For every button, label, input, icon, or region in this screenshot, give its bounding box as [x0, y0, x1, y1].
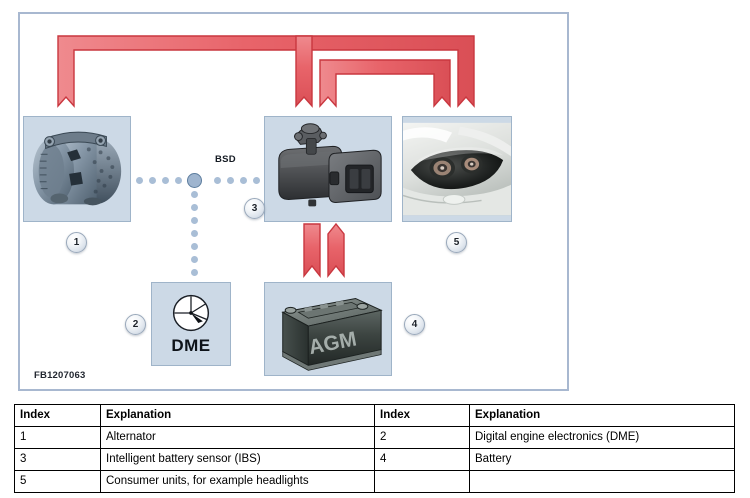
component-alternator[interactable] — [23, 116, 131, 222]
headlight-image — [403, 116, 511, 222]
table-row: 3 Intelligent battery sensor (IBS) 4 Bat… — [15, 449, 735, 471]
cell-index-left: 3 — [15, 449, 101, 471]
bus-label: BSD — [215, 154, 236, 165]
bus-dot — [149, 177, 156, 184]
cell-index-left: 5 — [15, 471, 101, 493]
badge-battery-sensor: 3 — [244, 198, 265, 219]
header-index-2: Index — [375, 405, 470, 427]
bus-dot — [191, 243, 198, 250]
battery-sensor-image — [265, 116, 391, 222]
table-row: 1 Alternator 2 Digital engine electronic… — [15, 427, 735, 449]
badge-dme: 2 — [125, 314, 146, 335]
cell-explanation-left: Alternator — [101, 427, 375, 449]
dme-label: DME — [171, 336, 210, 356]
bus-dot — [191, 230, 198, 237]
gauge-icon — [170, 292, 212, 334]
cell-explanation-left: Intelligent battery sensor (IBS) — [101, 449, 375, 471]
cell-explanation-left: Consumer units, for example headlights — [101, 471, 375, 493]
bus-dot — [175, 177, 182, 184]
table-header-row: Index Explanation Index Explanation — [15, 405, 735, 427]
battery-image: AGM — [265, 282, 391, 376]
bus-dot — [191, 269, 198, 276]
alternator-image — [24, 116, 130, 222]
bus-dot — [191, 256, 198, 263]
header-explanation-1: Explanation — [101, 405, 375, 427]
badge-headlight: 5 — [446, 232, 467, 253]
cell-index-right: 4 — [375, 449, 470, 471]
component-dme[interactable]: DME — [151, 282, 231, 366]
header-explanation-2: Explanation — [470, 405, 735, 427]
cell-explanation-right: Digital engine electronics (DME) — [470, 427, 735, 449]
cell-index-left: 1 — [15, 427, 101, 449]
bus-dot — [227, 177, 234, 184]
cell-explanation-right — [470, 471, 735, 493]
bus-dot — [214, 177, 221, 184]
component-battery[interactable]: AGM — [264, 282, 392, 376]
bus-dot — [191, 204, 198, 211]
bus-dot — [162, 177, 169, 184]
component-battery-sensor[interactable] — [264, 116, 392, 222]
cell-explanation-right: Battery — [470, 449, 735, 471]
component-headlight[interactable] — [402, 116, 512, 222]
legend-table: Index Explanation Index Explanation 1 Al… — [14, 404, 735, 493]
cell-index-right: 2 — [375, 427, 470, 449]
dme-content: DME — [170, 292, 212, 356]
bus-dot — [191, 217, 198, 224]
badge-alternator: 1 — [66, 232, 87, 253]
bus-dot — [191, 191, 198, 198]
figure-reference-code: FB1207063 — [34, 370, 85, 381]
bus-dot — [136, 177, 143, 184]
bus-dot — [240, 177, 247, 184]
bus-dot — [253, 177, 260, 184]
diagram-frame: BSD — [18, 12, 569, 391]
badge-battery: 4 — [404, 314, 425, 335]
header-index-1: Index — [15, 405, 101, 427]
table-row: 5 Consumer units, for example headlights — [15, 471, 735, 493]
bus-junction-node — [187, 173, 202, 188]
cell-index-right — [375, 471, 470, 493]
